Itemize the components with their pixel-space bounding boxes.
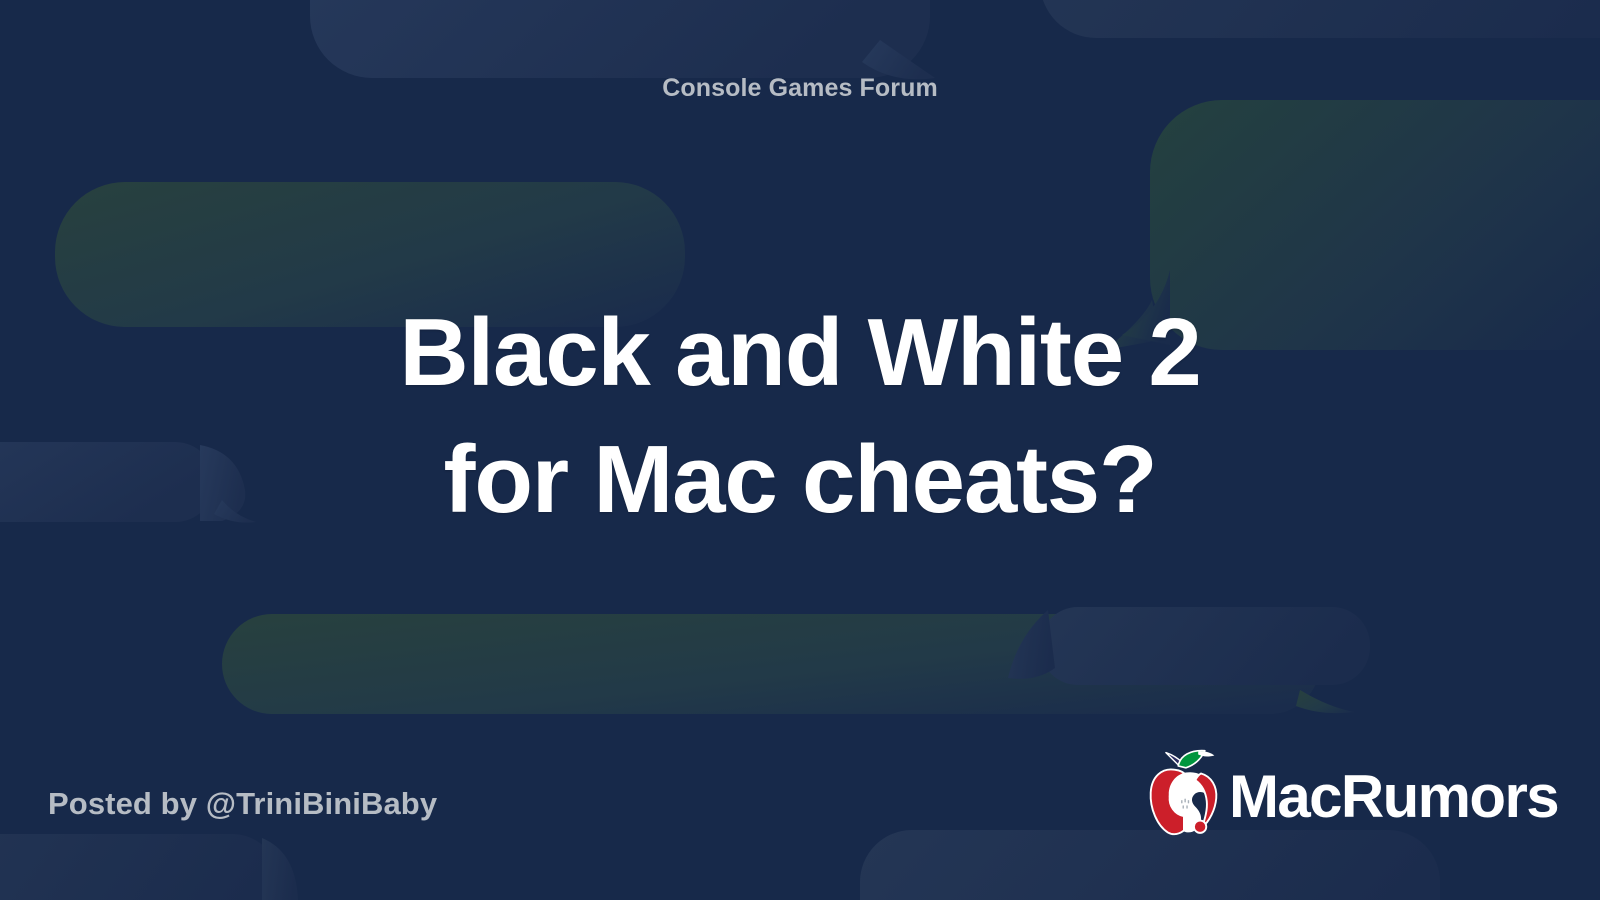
bubble-bottom-left: [0, 834, 298, 900]
bubble-top-center: [310, 0, 935, 79]
title-line-1: Black and White 2: [120, 290, 1480, 417]
bubble-bottom-center: [860, 830, 1440, 900]
macrumors-apple-question-mark-icon: [1145, 745, 1221, 840]
brand-lockup: MacRumors: [1145, 745, 1558, 840]
bubble-top-right: [1040, 0, 1600, 38]
title-line-2: for Mac cheats?: [120, 417, 1480, 544]
social-share-card: Console Games Forum Black and White 2 fo…: [0, 0, 1600, 900]
page-title: Black and White 2 for Mac cheats?: [0, 290, 1600, 543]
posted-by-label: Posted by @TriniBiniBaby: [48, 786, 437, 822]
forum-label: Console Games Forum: [0, 74, 1600, 103]
bubble-center-teal: [222, 614, 1355, 714]
brand-name: MacRumors: [1229, 767, 1558, 827]
bubble-lower-right: [1008, 607, 1370, 685]
